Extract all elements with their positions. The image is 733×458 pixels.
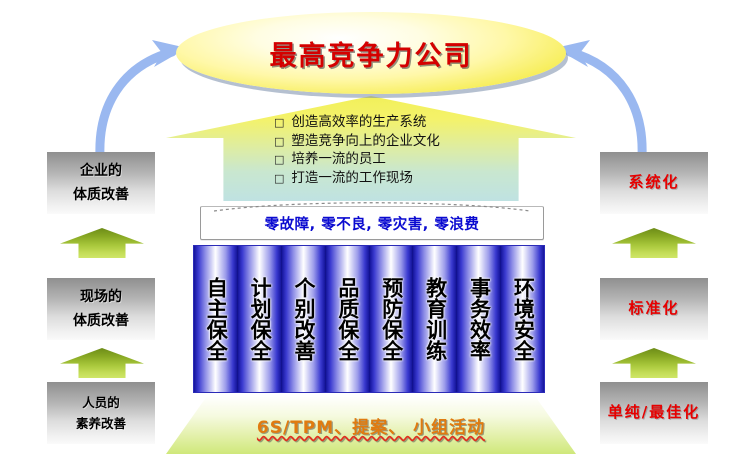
pillar-4[interactable]: 品质保全 <box>326 246 370 392</box>
left-up-arrow-2 <box>60 348 144 378</box>
left-box-line1: 人员的 <box>82 392 120 414</box>
pillar-1[interactable]: 自主保全 <box>194 246 238 392</box>
left-box-people[interactable]: 人员的 素养改善 <box>47 382 155 444</box>
pillar-label: 预防保全 <box>380 277 402 361</box>
left-box-line2: 体质改善 <box>73 183 129 207</box>
roof-objective-list: □ 创造高效率的生产系统 □ 塑造竞争向上的企业文化 □ 培养一流的员工 □ 打… <box>274 113 440 188</box>
right-box-label: 系统化 <box>628 170 679 196</box>
foundation-base: 6S/TPM、提案、 小组活动 <box>166 396 576 454</box>
foundation-label: 6S/TPM、提案、 小组活动 <box>166 396 576 454</box>
pillar-7[interactable]: 事务效率 <box>457 246 501 392</box>
goal-title: 最高竞争力公司 <box>270 34 473 73</box>
up-arrow-icon <box>60 348 144 378</box>
pillar-2[interactable]: 计划保全 <box>238 246 282 392</box>
left-up-arrow-1 <box>60 228 144 258</box>
up-arrow-icon <box>612 228 696 258</box>
pillar-label: 事务效率 <box>468 277 490 361</box>
list-item: □ 培养一流的员工 <box>274 150 440 169</box>
right-box-systemization[interactable]: 系统化 <box>600 152 708 214</box>
roof-arrow: □ 创造高效率的生产系统 □ 塑造竞争向上的企业文化 □ 培养一流的员工 □ 打… <box>166 96 576 201</box>
list-item: □ 塑造竞争向上的企业文化 <box>274 132 440 151</box>
roof-item-label: 培养一流的员工 <box>291 150 386 169</box>
roof-item-label: 创造高效率的生产系统 <box>291 113 426 132</box>
zero-loss-banner: 零故障, 零不良, 零灾害, 零浪费 <box>200 206 544 240</box>
right-box-standardization[interactable]: 标准化 <box>600 278 708 340</box>
roof-item-label: 塑造竞争向上的企业文化 <box>291 132 440 151</box>
left-box-enterprise[interactable]: 企业的 体质改善 <box>47 152 155 214</box>
left-box-line2: 素养改善 <box>76 413 126 435</box>
left-box-workplace[interactable]: 现场的 体质改善 <box>47 278 155 340</box>
right-box-label: 单纯/最佳化 <box>608 400 700 426</box>
left-box-line1: 企业的 <box>80 159 122 183</box>
pillar-label: 计划保全 <box>249 277 271 361</box>
pillar-3[interactable]: 个别改善 <box>282 246 326 392</box>
pillar-label: 品质保全 <box>336 277 358 361</box>
pillar-label: 自主保全 <box>205 277 227 361</box>
bullet-square-icon: □ <box>274 152 284 167</box>
right-box-simplification[interactable]: 单纯/最佳化 <box>600 382 708 444</box>
pillar-label: 个别改善 <box>292 277 314 361</box>
up-arrow-icon <box>60 228 144 258</box>
roof-item-label: 打造一流的工作现场 <box>291 169 413 188</box>
pillar-label: 教育训练 <box>424 277 446 361</box>
pillar-5[interactable]: 预防保全 <box>370 246 414 392</box>
bullet-square-icon: □ <box>274 115 284 130</box>
goal-ellipse: 最高竞争力公司 <box>176 12 566 94</box>
list-item: □ 创造高效率的生产系统 <box>274 113 440 132</box>
pillar-8[interactable]: 环境安全 <box>501 246 544 392</box>
pillar-group: 自主保全 计划保全 个别改善 品质保全 预防保全 教育训练 事务效率 环境安全 <box>193 245 545 393</box>
bullet-square-icon: □ <box>274 171 284 186</box>
up-arrow-icon <box>612 348 696 378</box>
right-up-arrow-1 <box>612 228 696 258</box>
zero-loss-text: 零故障, 零不良, 零灾害, 零浪费 <box>265 213 480 234</box>
left-box-line2: 体质改善 <box>73 309 129 333</box>
list-item: □ 打造一流的工作现场 <box>274 169 440 188</box>
right-up-arrow-2 <box>612 348 696 378</box>
pillar-label: 环境安全 <box>512 277 534 361</box>
bullet-square-icon: □ <box>274 134 284 149</box>
pillar-6[interactable]: 教育训练 <box>413 246 457 392</box>
right-box-label: 标准化 <box>628 296 679 322</box>
left-box-line1: 现场的 <box>80 285 122 309</box>
tpm-house-diagram: 最高竞争力公司 □ 创造高效率的生产系统 □ 塑造竞争向上的企业文化 □ 培养一… <box>0 0 733 458</box>
